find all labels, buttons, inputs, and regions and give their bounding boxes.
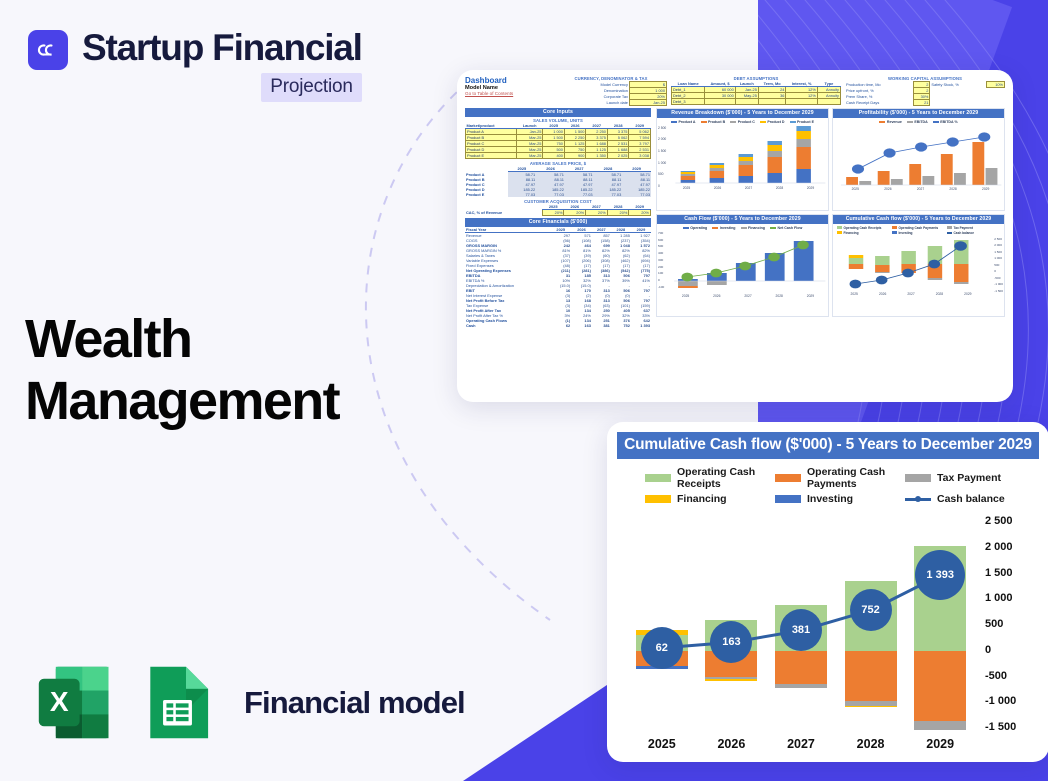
format-badges: X Financial model [32, 660, 465, 745]
bar-segment [845, 706, 897, 707]
row-value: 1 393 [631, 323, 651, 328]
table-of-contents-link[interactable]: Go to Table of Contents [465, 91, 551, 96]
mini-chart-revenue-breakdown: Revenue Breakdown ($'000) - 5 Years to D… [656, 108, 829, 211]
debt-panel: DEBT ASSUMPTIONS Loan Name Amount, $ Lau… [671, 76, 841, 105]
legend-item-financing: Financing [645, 493, 775, 505]
y-tick-label: 1 000 [985, 592, 1039, 604]
dashboard-preview-card: Dashboard Model Name Go to Table of Cont… [457, 70, 1013, 402]
bar-segment [705, 679, 757, 681]
cash-balance-node: 62 [641, 627, 683, 669]
mini-chart-cash-flow: Cash Flow ($'000) - 5 Years to December … [656, 214, 829, 317]
bar-segment [845, 651, 897, 701]
dashboard-heading-block: Dashboard Model Name Go to Table of Cont… [465, 76, 551, 96]
currency-table: Model Currency$ Denomination1 000 Corpor… [555, 81, 667, 106]
legend-swatch-orange [775, 474, 801, 482]
svg-text:X: X [50, 686, 69, 717]
legend-item-tax-payment: Tax Payment [905, 466, 1035, 490]
mini-chart-profitability: Profitability ($'000) - 5 Years to Decem… [832, 108, 1005, 211]
chart-plot-area: 2025 2026 2027 2028 2029 2 5002 0001 500… [617, 509, 1039, 759]
bar-segment [775, 651, 827, 684]
debt-table: Loan Name Amount, $ Launch Term, Mo Inte… [671, 81, 841, 105]
page-title-line2: Management [25, 370, 339, 432]
row-value: 62 [550, 323, 571, 328]
chart-x-axis-labels: 2025 2026 2027 2028 2029 [627, 737, 975, 751]
row-value: 163 [571, 323, 592, 328]
core-financials-header: Core Financials ($'000) [465, 218, 651, 227]
legend-swatch-green [645, 474, 671, 482]
table-row: Cash621633817521 393 [465, 323, 651, 328]
table-row: Debt_3 [672, 99, 841, 105]
row-label: Cash [465, 323, 550, 328]
legend-item-operating-cash-payments: Operating Cash Payments [775, 466, 905, 490]
page-title: Wealth Management [25, 308, 339, 432]
working-capital-table: Production time, Mo 2 Safety Stock, % 10… [845, 81, 1005, 106]
bar-segment [914, 721, 966, 730]
dashboard-title: Dashboard [465, 76, 551, 85]
chart-title: Cumulative Cash flow ($'000) - 5 Years t… [617, 432, 1039, 459]
table-row: CAC, % of Revenue 20% 20% 20% 20% 20% [465, 209, 651, 215]
brand-logo: Startup Financial Projection [28, 26, 362, 102]
y-tick-label: 0 [985, 644, 1039, 656]
mini-chart-cumulative-cash-flow: Cumulative Cash flow ($'000) - 5 Years t… [832, 214, 1005, 317]
microsoft-excel-icon: X [32, 660, 117, 745]
page-title-line1: Wealth [25, 308, 339, 370]
chart-legend: Operating Cash Receipts Operating Cash P… [617, 459, 1039, 509]
core-inputs-header: Core Inputs [465, 108, 651, 117]
y-tick-label: -1 500 [985, 721, 1039, 733]
bar-segment [914, 651, 966, 721]
cumulative-cash-flow-chart-card: Cumulative Cash flow ($'000) - 5 Years t… [607, 422, 1048, 762]
sales-volume-table: Market/product Launch 2025 2026 2027 202… [465, 123, 651, 159]
y-tick-label: -500 [985, 670, 1039, 682]
row-value: 752 [611, 323, 631, 328]
legend-swatch-grey [905, 474, 931, 482]
average-price-table: 2025 2026 2027 2028 2029 Product A 58.71… [465, 166, 651, 197]
cash-balance-node: 752 [850, 589, 892, 631]
bar-segment [775, 684, 827, 687]
infinity-loop-icon [28, 30, 68, 70]
y-tick-label: -1 000 [985, 695, 1039, 707]
bar-column [636, 515, 688, 733]
legend-item-cash-balance: Cash balance [905, 493, 1035, 505]
legend-swatch-blue [775, 495, 801, 503]
legend-swatch-yellow [645, 495, 671, 503]
y-tick-label: 500 [985, 618, 1039, 630]
brand-title: Startup Financial [82, 26, 362, 70]
cac-table: 2025 2026 2027 2028 2029 CAC, % of Reven… [465, 204, 651, 216]
core-financials-table: Fiscal Year 2025 2026 2027 2028 2029 Rev… [465, 227, 651, 328]
row-value: 381 [592, 323, 611, 328]
brand-subtitle-badge: Projection [261, 73, 362, 102]
legend-item-investing: Investing [775, 493, 905, 505]
chart-y-axis-labels: 2 5002 0001 5001 0005000-500-1 000-1 500 [977, 515, 1039, 733]
format-badges-label: Financial model [244, 685, 465, 721]
bar-column [914, 515, 966, 733]
legend-line-marker [905, 495, 931, 503]
legend-item-operating-cash-receipts: Operating Cash Receipts [645, 466, 775, 490]
working-capital-panel: WORKING CAPITAL ASSUMPTIONS Production t… [845, 76, 1005, 106]
y-tick-label: 2 500 [985, 515, 1039, 527]
y-tick-label: 2 000 [985, 541, 1039, 553]
table-row: Product E Mar-25 400 900 1 350 2 025 3 0… [466, 152, 651, 158]
table-row: Product E 77.03 77.03 77.03 77.03 77.03 [465, 192, 651, 197]
currency-panel: CURRENCY, DENOMINATOR & TAX Model Curren… [555, 76, 667, 106]
y-tick-label: 1 500 [985, 567, 1039, 579]
google-sheets-icon [135, 660, 220, 745]
